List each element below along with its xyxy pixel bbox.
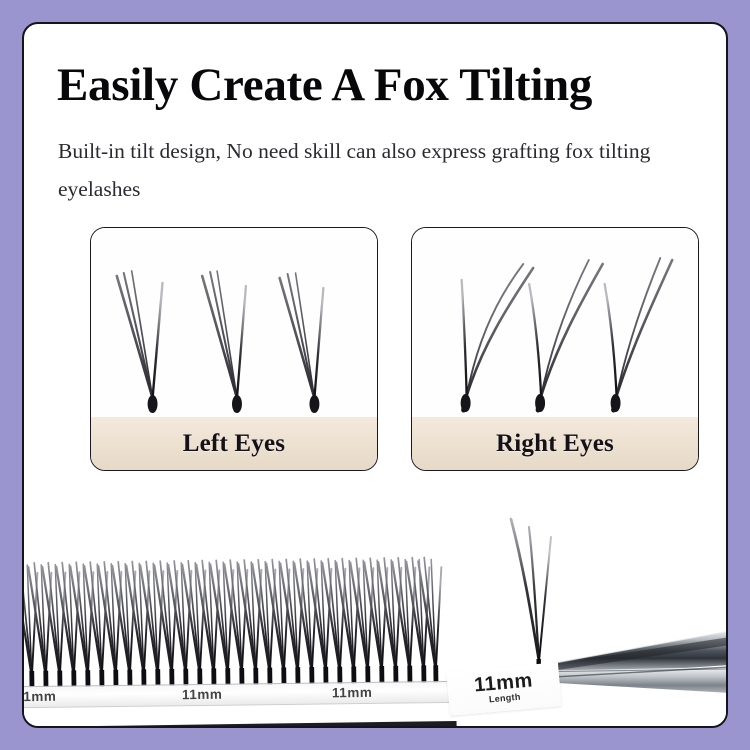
page-title: Easily Create A Fox Tilting bbox=[57, 62, 697, 109]
demo-label-band-right: Right Eyes bbox=[412, 417, 698, 470]
demo-label-right-eyes: Right Eyes bbox=[496, 430, 614, 458]
length-tag-value: 11mm bbox=[473, 671, 533, 696]
demo-card-left-eyes: Left Eyes bbox=[90, 227, 378, 471]
product-card: Easily Create A Fox Tilting Built-in til… bbox=[22, 22, 728, 728]
demo-label-left-eyes: Left Eyes bbox=[183, 430, 285, 458]
subtitle-text: Built-in tilt design, No need skill can … bbox=[58, 132, 678, 209]
demo-label-band-left: Left Eyes bbox=[91, 417, 377, 470]
outer-frame: Easily Create A Fox Tilting Built-in til… bbox=[0, 0, 750, 750]
lash-fan-illustration-left bbox=[91, 228, 377, 419]
lash-fan-illustration-right bbox=[412, 228, 698, 419]
length-tag-caption: Length bbox=[489, 692, 522, 706]
ruler-tick-2: 11mm bbox=[332, 685, 372, 700]
product-photo: 11mm 11mm 11mm 11mm Length bbox=[24, 479, 726, 726]
ruler-tick-0: 11mm bbox=[24, 689, 56, 704]
demo-card-right-eyes: Right Eyes bbox=[411, 227, 699, 471]
ruler-tick-1: 11mm bbox=[182, 687, 222, 702]
